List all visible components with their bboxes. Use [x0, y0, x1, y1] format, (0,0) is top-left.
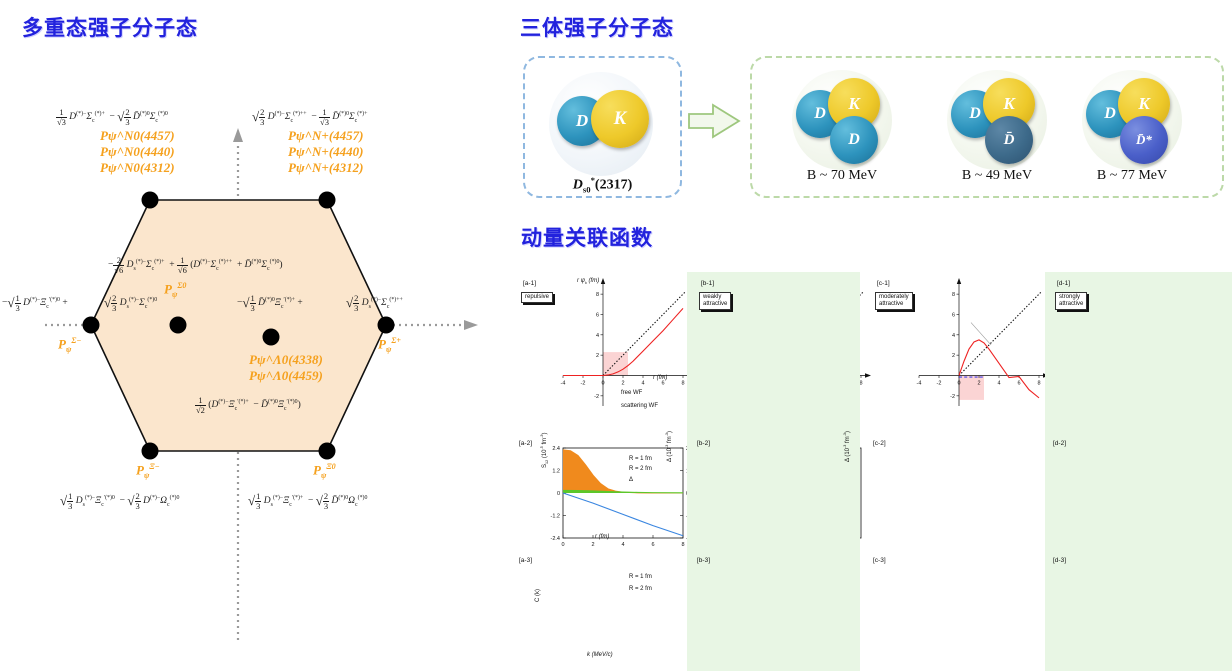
quark-Dbar: D̄ [985, 116, 1033, 164]
state-label: Pψ^N+(4457) [288, 128, 364, 144]
legend-a2-delta: Δ [629, 477, 633, 483]
svg-text:6: 6 [661, 380, 664, 386]
composition-Sigma-minus-right: √23 Ds(*)−Σc(*)0 [104, 294, 157, 312]
state-label: Pψ^N0(4440) [100, 144, 175, 160]
panel-tag-c2: [c-2] [873, 440, 886, 447]
svg-text:4: 4 [641, 380, 644, 386]
composition-N0: 1√3 D(*)−Σc(*)+ − √23 D̄(*)0Σc(*)0 [56, 108, 168, 126]
axis-label-a2-x: r (fm) [595, 534, 609, 540]
panel-tag-a3: [a-3] [519, 557, 532, 564]
panel-tag-a1: [a-1] [523, 280, 536, 287]
svg-text:4: 4 [596, 333, 599, 339]
axis-label-a3-y: C (k) [535, 589, 541, 602]
legend-a3-r1: R = 1 fm [629, 574, 652, 580]
svg-text:6: 6 [651, 542, 654, 548]
svg-text:2: 2 [621, 380, 624, 386]
source-caption: Ds0*(2317) [525, 175, 680, 194]
vertex-Xi-zero[interactable] [319, 443, 336, 460]
svg-text:4: 4 [952, 333, 955, 339]
svg-text:0: 0 [601, 380, 604, 386]
vertex-Sigma-minus[interactable] [83, 317, 100, 334]
legend-a3-r2: R = 2 fm [629, 586, 652, 592]
vertex-Sigma-zero[interactable] [170, 317, 187, 334]
svg-text:4: 4 [621, 542, 624, 548]
state-label: Pψ^N+(4312) [288, 160, 364, 176]
source-box: D K Ds0*(2317) [523, 56, 682, 198]
axis-label-a1-x: r (fm) [653, 375, 667, 381]
svg-text:2: 2 [591, 542, 594, 548]
panel-tag-a2: [a-2] [519, 440, 532, 447]
panel-tag-c3: [c-3] [873, 557, 886, 564]
panel-tag-d2: [d-2] [1053, 440, 1066, 447]
svg-text:6: 6 [596, 312, 599, 318]
axis-label-b2-y2: Δ (10-3 fm-3) [843, 431, 851, 462]
vertex-label-Xi-minus: PψΞ− [136, 462, 160, 481]
composition-Sigma-plus-right: √23 Ds(*)−Σc(*)++ [346, 294, 403, 312]
svg-text:-2: -2 [594, 394, 599, 400]
svg-text:-2: -2 [950, 394, 955, 400]
composition-Lambda-zero: 1√2 (D(*)−Ξc′(*)+ − D̄(*)0Ξc′(*)0) [195, 396, 301, 414]
composition-Sigma-zero: −2√6 Ds(*)−Σc(*)+ + 1√6 (D(*)−Σc(*)++ + … [108, 256, 283, 274]
rightwards-arrow-icon [687, 102, 743, 142]
svg-text:1.2: 1.2 [552, 469, 560, 475]
state-label: Pψ^Λ0(4338) [249, 352, 323, 368]
state-label: Pψ^N+(4440) [288, 144, 364, 160]
svg-text:6: 6 [1017, 380, 1020, 386]
callout-b: weaklyattractive [699, 292, 731, 310]
svg-text:-1.2: -1.2 [551, 514, 560, 520]
callout-a: repulsive [521, 292, 553, 303]
product-3-caption: B ~ 77 MeV [1057, 168, 1207, 184]
panel-tag-b2: [b-2] [697, 440, 710, 447]
state-label: Pψ^N0(4312) [100, 160, 175, 176]
svg-text:2: 2 [977, 380, 980, 386]
vertical-axis-arrow [233, 128, 243, 142]
svg-text:0: 0 [957, 380, 960, 386]
state-label: Pψ^N0(4457) [100, 128, 175, 144]
svg-text:-2.4: -2.4 [551, 536, 560, 542]
composition-Xi-zero: √13 Ds(*)−Ξc′(*)+ − √23 D̄(*)0Ωc(*)0 [248, 492, 367, 510]
vertex-label-Sigma-zero: PψΣ0 [164, 281, 186, 300]
axis-label-a1-y: r ψk (fm) [577, 278, 599, 285]
legend-a1-scatt: scattering WF [621, 403, 658, 409]
axis-label-a3-x: k (MeV/c) [587, 652, 613, 658]
vertex-label-Sigma-plus: PψΣ+ [378, 336, 401, 355]
svg-text:8: 8 [596, 292, 599, 298]
axis-label-a2-y: S12 (10-5 fm-3) [540, 433, 549, 468]
product-2-caption: B ~ 49 MeV [922, 168, 1072, 184]
svg-text:6: 6 [952, 312, 955, 318]
svg-text:0: 0 [557, 491, 560, 497]
svg-text:-2: -2 [937, 380, 942, 386]
column-b-background [687, 272, 860, 671]
svg-text:2: 2 [952, 353, 955, 359]
composition-Sigma-plus-left: −√13 D̄(*)0Ξc′(*)+ + [237, 294, 303, 312]
svg-text:8: 8 [1037, 380, 1040, 386]
composition-Sigma-minus-left: −√13 D(*)−Ξc′(*)0 + [2, 294, 68, 312]
vertex-label-Xi-zero: PψΞ0 [313, 462, 336, 481]
svg-text:2.4: 2.4 [552, 446, 560, 452]
composition-Nplus: √23 D(*)−Σc(*)++ − 1√3 D̄(*)0Σc(*)+ [252, 108, 367, 126]
callout-c: moderatelyattractive [875, 292, 913, 310]
correlation-plot-grid: -4-202468-22468-4-202468-22468-4-202468-… [505, 272, 1232, 671]
multiplet-panel: 多重态强子分子态 1√3 D(*)−Σc(*)+ − √23 D̄(*)0Σc(… [0, 0, 500, 671]
products-box: D K D B ~ 70 MeV D K D̄ B ~ 49 MeV D K D… [750, 56, 1224, 198]
svg-text:0: 0 [561, 542, 564, 548]
states-N0: Pψ^N0(4457) Pψ^N0(4440) Pψ^N0(4312) [100, 128, 175, 176]
panel-tag-b1: [b-1] [701, 280, 714, 287]
legend-a2-r1: R = 1 fm [629, 456, 652, 462]
svg-text:4: 4 [997, 380, 1000, 386]
composition-Xi-minus: √13 Ds(*)−Ξc′(*)0 − √23 D(*)−Ωc(*)0 [60, 492, 179, 510]
quark-D2: D [830, 116, 878, 164]
threebody-panel: 三体强子分子态 D K Ds0*(2317) D K D B ~ 70 MeV … [505, 0, 1232, 215]
svg-text:-4: -4 [561, 380, 566, 386]
svg-text:-2: -2 [581, 380, 586, 386]
vertex-Lambda-zero[interactable] [263, 329, 280, 346]
callout-d: stronglyattractive [1055, 292, 1087, 310]
panel-tag-b3: [b-3] [697, 557, 710, 564]
product-1-caption: B ~ 70 MeV [767, 168, 917, 184]
states-Lambda-zero: Pψ^Λ0(4338) Pψ^Λ0(4459) [249, 352, 323, 384]
svg-text:-4: -4 [917, 380, 922, 386]
correlation-title: 动量关联函数 [521, 222, 653, 252]
quark-K: K [591, 90, 649, 148]
svg-text:2: 2 [596, 353, 599, 359]
svg-text:8: 8 [952, 292, 955, 298]
vertex-Nplus[interactable] [319, 192, 336, 209]
horizontal-axis-arrow [464, 320, 478, 330]
panel-tag-c1: [c-1] [877, 280, 890, 287]
legend-a1-free: free WF [621, 390, 642, 396]
svg-text:8: 8 [681, 380, 684, 386]
states-Nplus: Pψ^N+(4457) Pψ^N+(4440) Pψ^N+(4312) [288, 128, 364, 176]
svg-text:8: 8 [681, 542, 684, 548]
vertex-Xi-minus[interactable] [142, 443, 159, 460]
panel-tag-d1: [d-1] [1057, 280, 1070, 287]
axis-label-a2-y2: Δ (10-3 fm-3) [665, 431, 673, 462]
vertex-N0[interactable] [142, 192, 159, 209]
panel-tag-d3: [d-3] [1053, 557, 1066, 564]
quark-Dbar-star: D̄* [1120, 116, 1168, 164]
vertex-label-Sigma-minus: PψΣ− [58, 336, 81, 355]
vertex-Sigma-plus[interactable] [378, 317, 395, 334]
legend-a2-r2: R = 2 fm [629, 466, 652, 472]
state-label: Pψ^Λ0(4459) [249, 368, 323, 384]
column-d-background [1045, 272, 1232, 671]
threebody-title: 三体强子分子态 [520, 12, 674, 42]
